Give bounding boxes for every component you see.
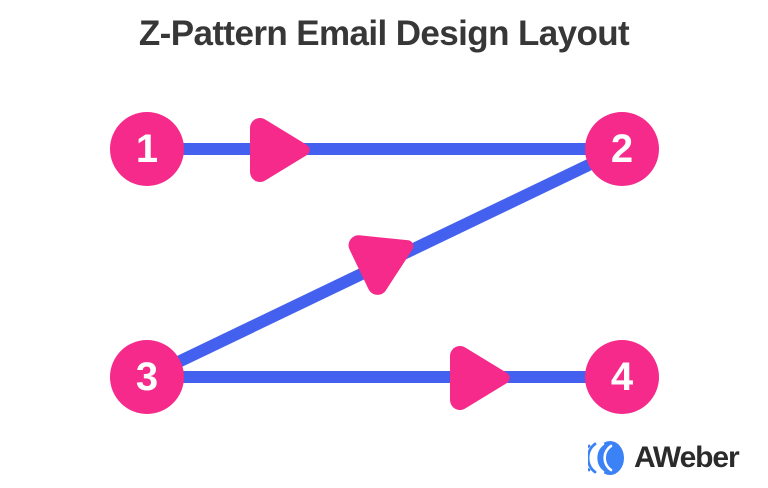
aweber-logo-text: AWeber	[634, 443, 739, 473]
node-circle-4[interactable]	[585, 340, 659, 414]
node-circle-3[interactable]	[110, 340, 184, 414]
aweber-logo: AWeber	[588, 436, 748, 480]
arrow-right-bottom-icon	[450, 346, 510, 410]
aweber-mark-icon	[588, 440, 630, 476]
node-circle-2[interactable]	[585, 112, 659, 186]
slide-canvas: Z-Pattern Email Design Layout 1 2 3 4	[0, 0, 768, 488]
node-circle-1[interactable]	[110, 112, 184, 186]
arrow-diagonal-icon	[345, 215, 426, 299]
arrow-group	[250, 118, 510, 410]
z-pattern-diagram	[0, 0, 768, 488]
arrow-right-top-icon	[250, 118, 310, 182]
